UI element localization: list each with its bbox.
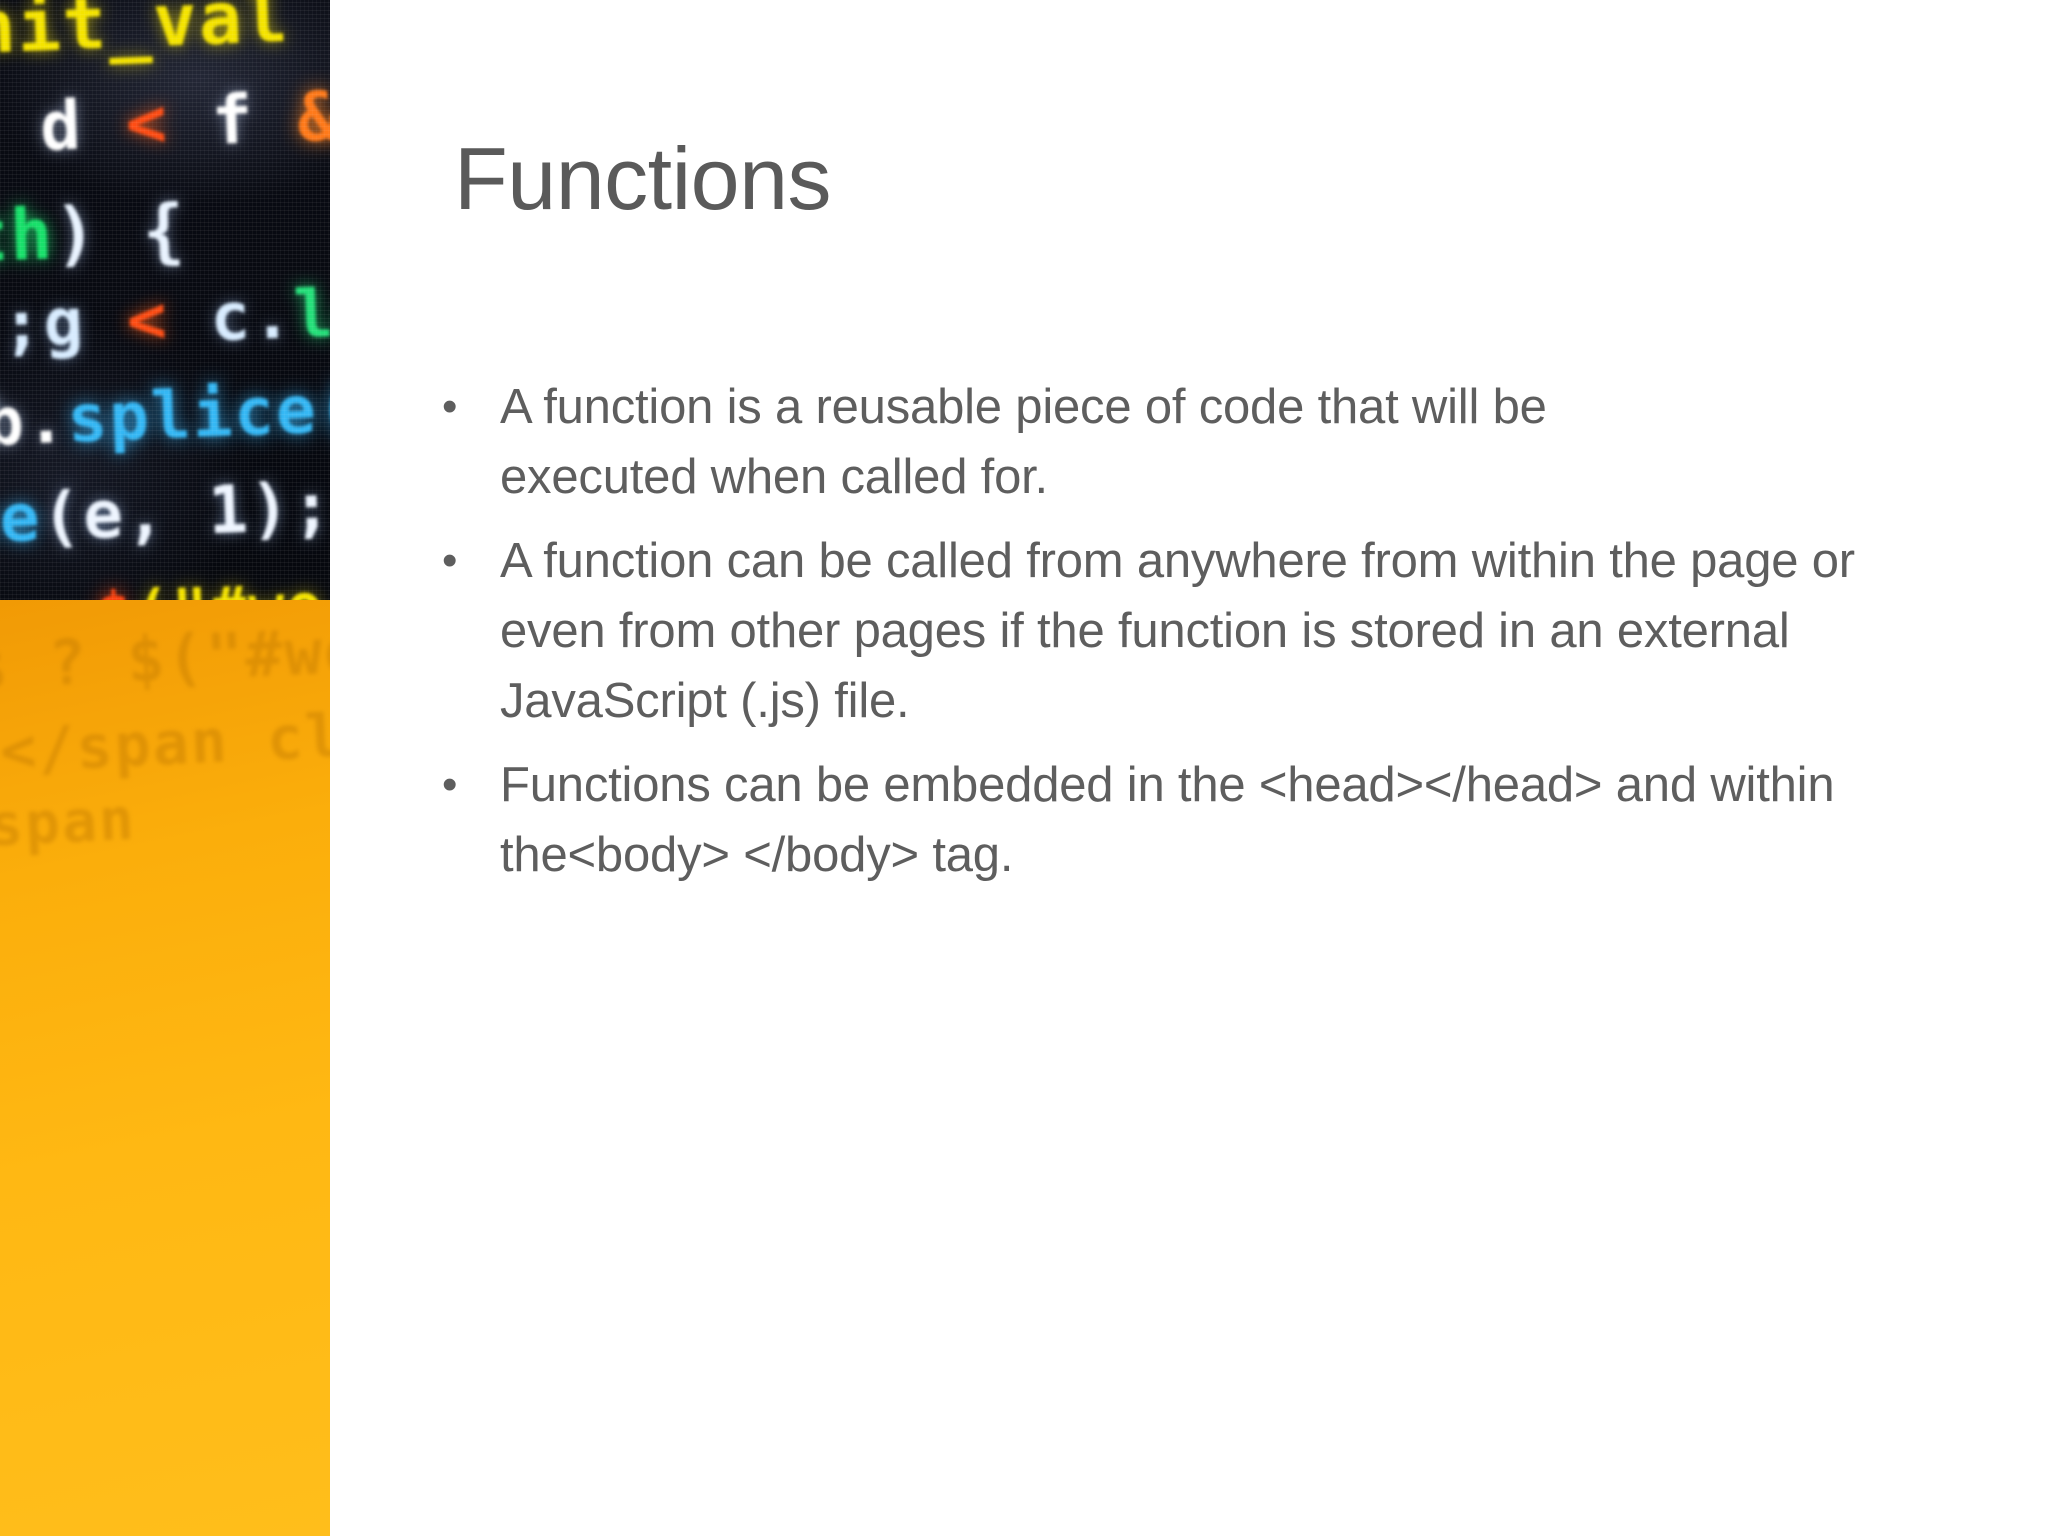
presentation-slide: nit_val ) d < f && th) { );g < c.le b.sp…: [0, 0, 2048, 1536]
slide-content-area: Functions • A function is a reusable pie…: [330, 0, 2048, 1536]
bullet-item: • Functions can be embedded in the <head…: [418, 750, 1998, 890]
ghost-glyph-line-2: </span cla: [0, 699, 330, 786]
bullet-text: Functions can be embedded in the <head><…: [500, 750, 1920, 890]
side-image-strip: nit_val ) d < f && th) { );g < c.le b.sp…: [0, 0, 330, 1536]
bullet-marker-icon: •: [418, 526, 500, 596]
code-glyph-line-6: ce(e, 1);: [0, 468, 330, 559]
bullet-text: A function can be called from anywhere f…: [500, 526, 1920, 736]
bullet-item: • A function can be called from anywhere…: [418, 526, 1998, 736]
bullet-marker-icon: •: [418, 750, 500, 820]
bullet-text: A function is a reusable piece of code t…: [500, 372, 1720, 512]
code-glyph-line-4: );g < c.le: [0, 273, 330, 365]
code-glyph-line-2: d < f &&: [39, 76, 330, 167]
ghost-glyph-line-3: span: [0, 785, 137, 860]
code-glyph-line-5: b.splice(: [0, 370, 330, 461]
code-glyph-line-3: th) {: [0, 189, 188, 278]
slide-title: Functions: [454, 133, 831, 225]
code-glyph-line-1: nit_val ): [0, 0, 330, 70]
ghost-glyph-line-1: s ? $("#wo: [0, 614, 330, 703]
orange-accent-panel: s ? $("#wo </span cla span: [0, 600, 330, 1536]
bullet-item: • A function is a reusable piece of code…: [418, 372, 1998, 512]
bullet-marker-icon: •: [418, 372, 500, 442]
bullet-list: • A function is a reusable piece of code…: [418, 372, 1998, 904]
